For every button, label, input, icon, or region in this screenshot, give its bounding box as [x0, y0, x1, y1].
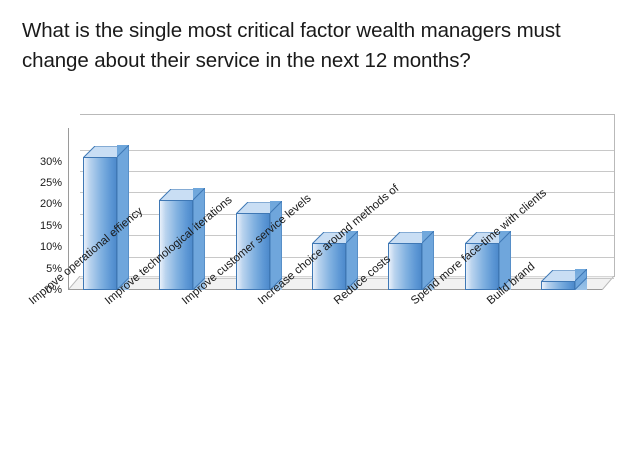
y-tick-label: 15% [22, 220, 62, 232]
bar-front-face [388, 243, 422, 290]
y-tick-label: 30% [22, 156, 62, 168]
y-tick-label: 10% [22, 241, 62, 253]
bar-side-face [575, 269, 587, 290]
bar-front-face [541, 281, 575, 290]
bar-chart: 0%5%10%15%20%25%30% Improve operational … [0, 100, 640, 300]
bar-side-face [193, 188, 205, 290]
page-title: What is the single most critical factor … [22, 16, 622, 76]
y-tick-label: 25% [22, 177, 62, 189]
y-tick-label: 20% [22, 198, 62, 210]
bar-front-face [83, 157, 117, 290]
bar [541, 269, 587, 290]
